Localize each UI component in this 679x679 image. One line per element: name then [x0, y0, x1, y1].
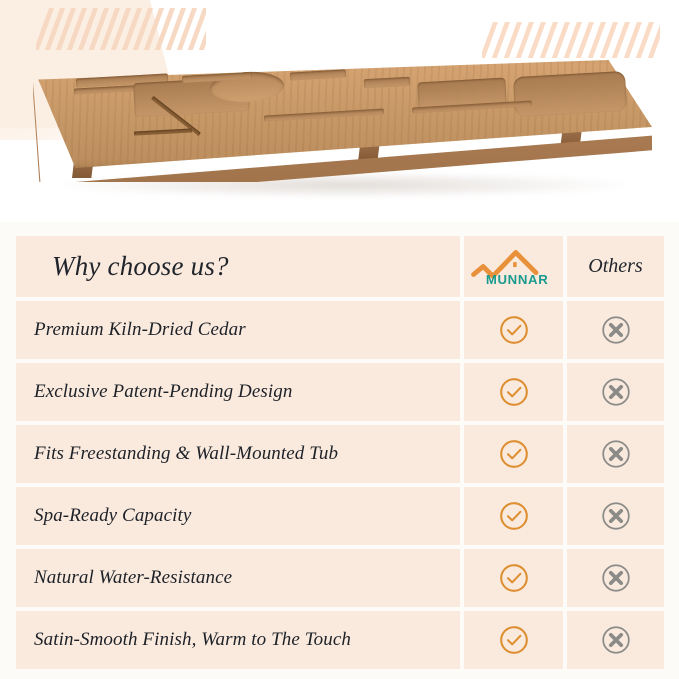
others-status-cell — [567, 549, 664, 607]
cross-circle-icon — [600, 624, 632, 656]
header-cell-others: Others — [567, 236, 664, 297]
feature-label: Spa-Ready Capacity — [16, 505, 191, 527]
feature-cell: Natural Water-Resistance — [16, 549, 460, 607]
check-circle-icon — [498, 314, 530, 346]
feature-label: Premium Kiln-Dried Cedar — [16, 319, 246, 341]
table-body: Premium Kiln-Dried CedarExclusive Patent… — [16, 301, 664, 669]
feature-label: Natural Water-Resistance — [16, 567, 232, 589]
table-header-row: Why choose us? MUNNAR Others — [16, 236, 664, 297]
others-status-cell — [567, 611, 664, 669]
others-column-label: Others — [588, 255, 642, 278]
tray-recess-tray — [513, 71, 627, 117]
table-row: Natural Water-Resistance — [16, 549, 664, 607]
wood-tray-illustration — [14, 52, 664, 202]
munnar-status-cell — [464, 363, 563, 421]
feature-cell: Exclusive Patent-Pending Design — [16, 363, 460, 421]
munnar-status-cell — [464, 487, 563, 545]
comparison-table: Why choose us? MUNNAR Others Premium Kil… — [16, 236, 664, 668]
others-status-cell — [567, 425, 664, 483]
table-row: Spa-Ready Capacity — [16, 487, 664, 545]
svg-text:MUNNAR: MUNNAR — [485, 272, 548, 287]
product-image-bath-tray — [14, 52, 664, 202]
others-status-cell — [567, 363, 664, 421]
header-cell-brand: MUNNAR — [464, 236, 563, 297]
others-status-cell — [567, 301, 664, 359]
table-row: Premium Kiln-Dried Cedar — [16, 301, 664, 359]
header-cell-title: Why choose us? — [16, 236, 460, 297]
table-row: Exclusive Patent-Pending Design — [16, 363, 664, 421]
table-row: Fits Freestanding & Wall-Mounted Tub — [16, 425, 664, 483]
feature-label: Satin-Smooth Finish, Warm to The Touch — [16, 629, 351, 651]
munnar-status-cell — [464, 549, 563, 607]
cross-circle-icon — [600, 562, 632, 594]
feature-label: Exclusive Patent-Pending Design — [16, 381, 292, 403]
decorative-stripes-left — [36, 8, 206, 50]
check-circle-icon — [498, 624, 530, 656]
cross-circle-icon — [600, 500, 632, 532]
munnar-status-cell — [464, 301, 563, 359]
feature-label: Fits Freestanding & Wall-Mounted Tub — [16, 443, 338, 465]
feature-cell: Premium Kiln-Dried Cedar — [16, 301, 460, 359]
cross-circle-icon — [600, 438, 632, 470]
page-title: Why choose us? — [16, 251, 229, 282]
cross-circle-icon — [600, 376, 632, 408]
table-row: Satin-Smooth Finish, Warm to The Touch — [16, 611, 664, 669]
cross-circle-icon — [600, 314, 632, 346]
check-circle-icon — [498, 438, 530, 470]
feature-cell: Spa-Ready Capacity — [16, 487, 460, 545]
check-circle-icon — [498, 562, 530, 594]
check-circle-icon — [498, 376, 530, 408]
hero-banner — [0, 0, 679, 222]
others-status-cell — [567, 487, 664, 545]
check-circle-icon — [498, 500, 530, 532]
tray-drop-shadow — [54, 172, 634, 198]
munnar-status-cell — [464, 425, 563, 483]
feature-cell: Satin-Smooth Finish, Warm to The Touch — [16, 611, 460, 669]
munnar-logo-icon: MUNNAR — [470, 247, 558, 287]
munnar-status-cell — [464, 611, 563, 669]
feature-cell: Fits Freestanding & Wall-Mounted Tub — [16, 425, 460, 483]
